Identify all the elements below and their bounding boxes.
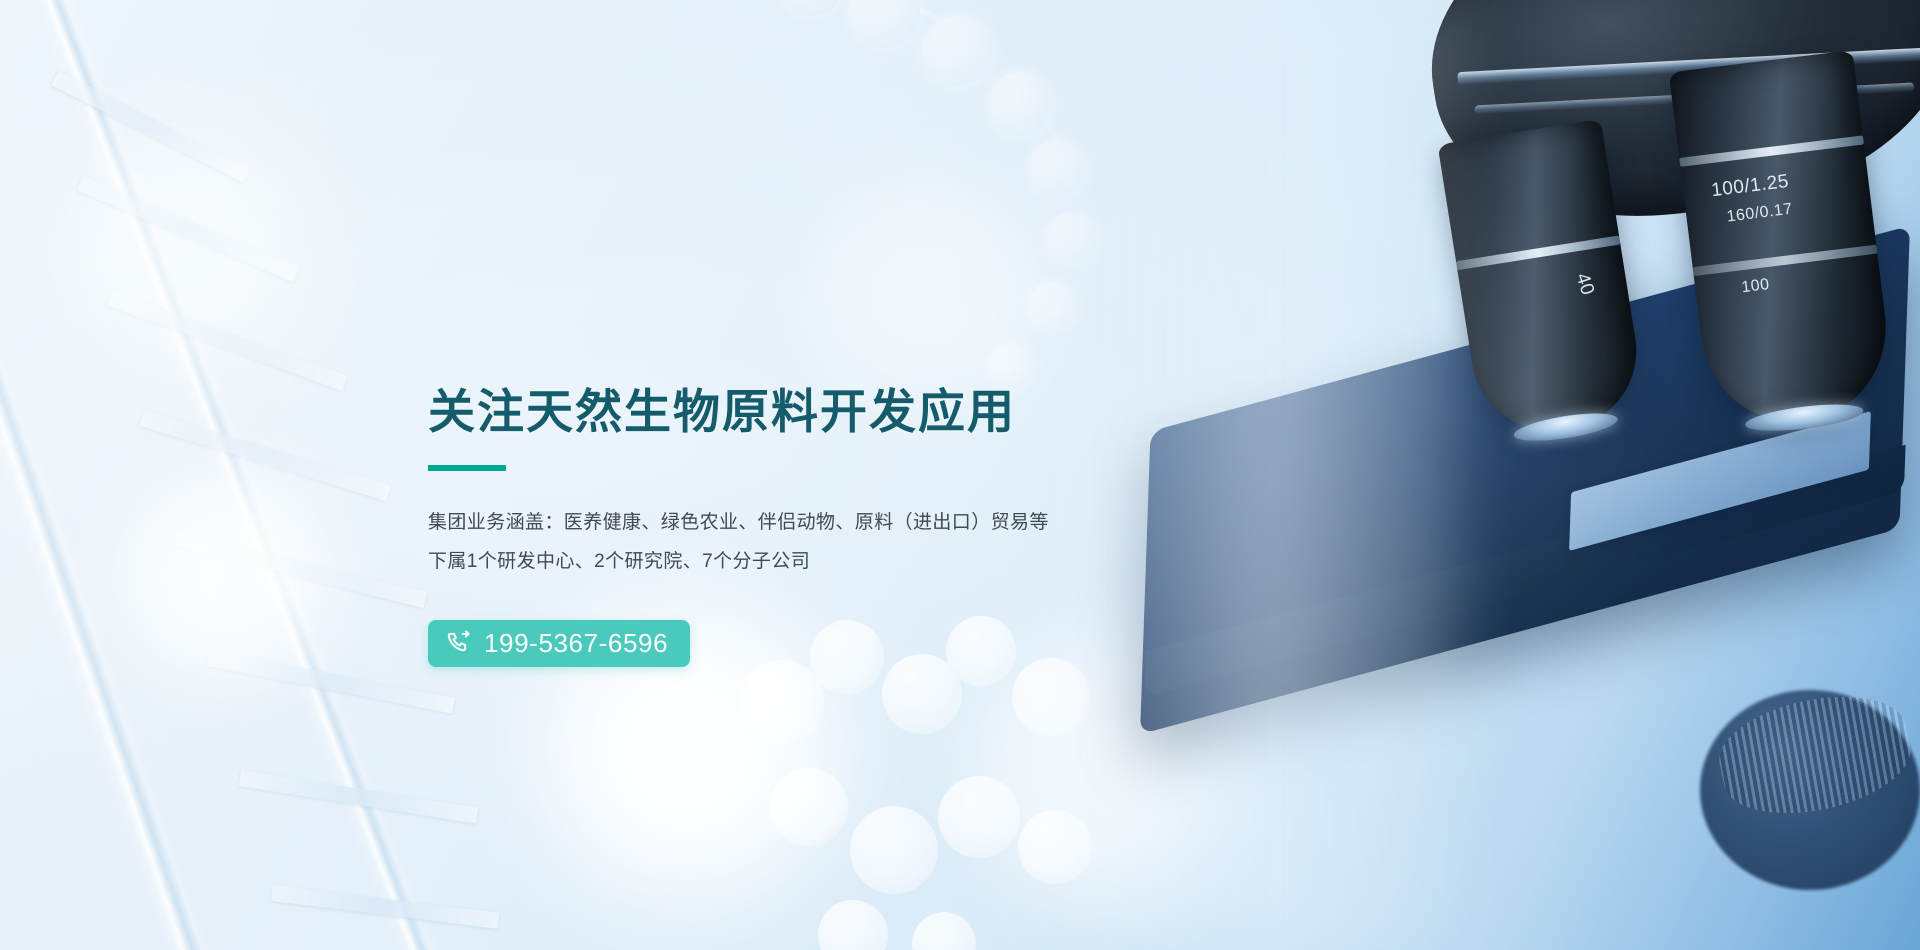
phone-forwarded-icon [446,630,472,656]
hero-subtitle-line-1: 集团业务涵盖：医养健康、绿色农业、伴侣动物、原料（进出口）贸易等 [428,504,1288,543]
hero-banner: 40 100/1.25 160/0.17 100 关注天然生物原料开发应用 [0,0,1920,950]
hero-subtitle-line-2: 下属1个研发中心、2个研究院、7个分子公司 [428,543,1288,582]
hero-headline: 关注天然生物原料开发应用 [428,386,1288,439]
headline-divider [428,465,506,471]
microscope-objective-40x: 40 [1438,119,1648,441]
hero-subtitle: 集团业务涵盖：医养健康、绿色农业、伴侣动物、原料（进出口）贸易等 下属1个研发中… [428,504,1288,582]
hero-content: 关注天然生物原料开发应用 集团业务涵盖：医养健康、绿色农业、伴侣动物、原料（进出… [428,386,1288,667]
phone-cta-button[interactable]: 199-5367-6596 [428,620,690,667]
microscope-slide [1569,411,1871,551]
microscope-nosepiece [1407,0,1920,249]
phone-number-label: 199-5367-6596 [484,630,668,656]
microscope-objective-100x: 100/1.25 160/0.17 100 [1669,50,1896,430]
